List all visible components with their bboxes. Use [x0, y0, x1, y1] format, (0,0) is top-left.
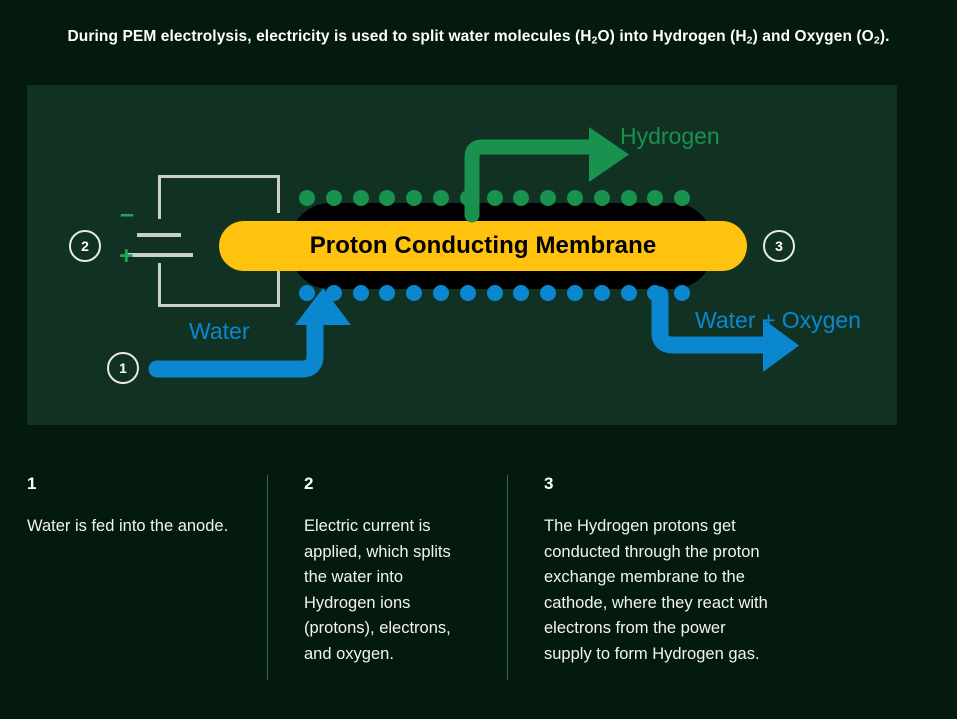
- water-particle-dot: [460, 285, 476, 301]
- step-number-2: 2: [304, 475, 471, 492]
- water-particle-dot: [540, 285, 556, 301]
- hydrogen-particle-dot: [567, 190, 583, 206]
- hydrogen-particle-dot: [621, 190, 637, 206]
- water-particle-dot: [379, 285, 395, 301]
- caption-part-1: During PEM electrolysis, electricity is …: [68, 28, 592, 45]
- hydrogen-particle-dot: [674, 190, 690, 206]
- battery-plate-negative: [137, 233, 181, 237]
- hydrogen-particle-dot: [353, 190, 369, 206]
- label-water-oxygen: Water + Oxygen: [695, 307, 861, 334]
- water-particle-dot: [594, 285, 610, 301]
- water-particle-dot: [674, 285, 690, 301]
- water-particle-dot: [353, 285, 369, 301]
- water-particle-dot: [406, 285, 422, 301]
- battery-plate-positive: [125, 253, 193, 257]
- steps-list: 1 Water is fed into the anode. 2 Electri…: [27, 475, 927, 695]
- minus-sign-icon: –: [120, 202, 134, 227]
- water-particle-dot: [433, 285, 449, 301]
- hydrogen-particle-dot: [460, 190, 476, 206]
- water-particle-dot: [647, 285, 663, 301]
- caption-part-2: O) into Hydrogen (H: [598, 28, 747, 45]
- hydrogen-particle-dot: [326, 190, 342, 206]
- hydrogen-particle-dot: [540, 190, 556, 206]
- step-item-3: 3 The Hydrogen protons get conducted thr…: [507, 475, 807, 695]
- step-number-3: 3: [544, 475, 771, 492]
- hydrogen-dot-row: [299, 190, 690, 206]
- water-particle-dot: [621, 285, 637, 301]
- step-text-2: Electric current is applied, which split…: [304, 514, 471, 667]
- step-text-3: The Hydrogen protons get conducted throu…: [544, 514, 771, 667]
- step-divider-2: [507, 475, 508, 680]
- plus-sign-icon: +: [119, 244, 134, 269]
- hydrogen-particle-dot: [433, 190, 449, 206]
- marker-circle-1[interactable]: 1: [107, 352, 139, 384]
- step-item-1: 1 Water is fed into the anode.: [27, 475, 267, 695]
- circuit-wire-top-right: [277, 175, 280, 213]
- label-water: Water: [189, 318, 250, 345]
- electrolysis-diagram-panel: – + 1 2 3 Proton Conducting Membrane Hyd…: [27, 85, 897, 425]
- water-particle-dot: [513, 285, 529, 301]
- step-item-2: 2 Electric current is applied, which spl…: [267, 475, 507, 695]
- membrane-label: Proton Conducting Membrane: [310, 232, 657, 260]
- hydrogen-particle-dot: [594, 190, 610, 206]
- hydrogen-particle-dot: [647, 190, 663, 206]
- marker-circle-3[interactable]: 3: [763, 230, 795, 262]
- hydrogen-particle-dot: [513, 190, 529, 206]
- page-caption: During PEM electrolysis, electricity is …: [0, 28, 957, 46]
- caption-part-3: ) and Oxygen (O: [753, 28, 874, 45]
- hydrogen-particle-dot: [299, 190, 315, 206]
- hydrogen-particle-dot: [406, 190, 422, 206]
- hydrogen-particle-dot: [487, 190, 503, 206]
- marker-circle-2[interactable]: 2: [69, 230, 101, 262]
- hydrogen-particle-dot: [379, 190, 395, 206]
- step-number-1: 1: [27, 475, 231, 492]
- proton-conducting-membrane: Proton Conducting Membrane: [219, 221, 747, 271]
- water-particle-dot: [567, 285, 583, 301]
- caption-part-4: ).: [880, 28, 890, 45]
- step-text-1: Water is fed into the anode.: [27, 514, 231, 540]
- label-hydrogen: Hydrogen: [620, 123, 720, 150]
- water-particle-dot: [299, 285, 315, 301]
- water-particle-dot: [326, 285, 342, 301]
- step-divider-1: [267, 475, 268, 680]
- oxygen-water-dot-row: [299, 285, 690, 301]
- water-particle-dot: [487, 285, 503, 301]
